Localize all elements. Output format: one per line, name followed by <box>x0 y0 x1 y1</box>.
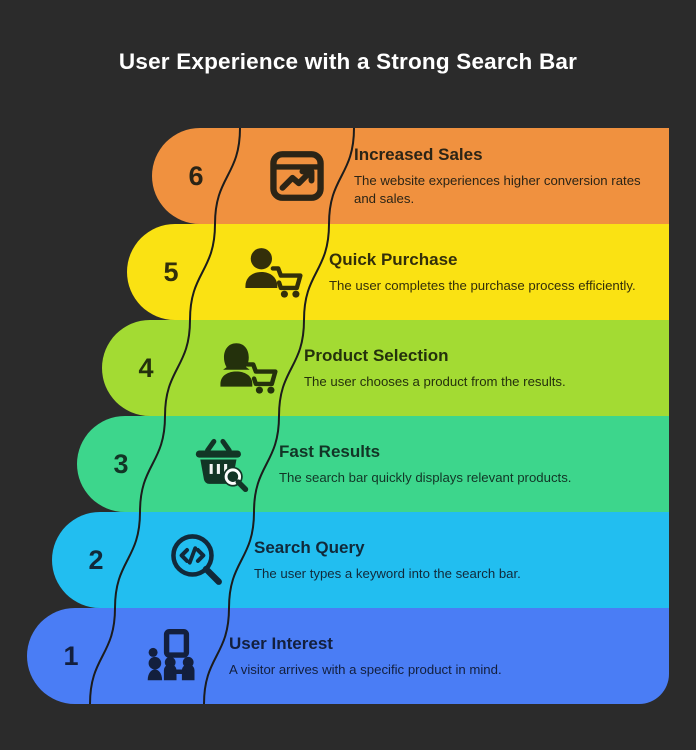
step-title: Search Query <box>254 538 651 558</box>
step-text-2: Search QueryThe user types a keyword int… <box>254 512 669 608</box>
step-title: Increased Sales <box>354 145 651 165</box>
step-number-pod-5: 5 <box>127 224 215 320</box>
step-description: A visitor arrives with a specific produc… <box>229 661 651 678</box>
step-number: 5 <box>163 259 178 286</box>
step-number: 4 <box>138 355 153 382</box>
step-description: The website experiences higher conversio… <box>354 172 651 207</box>
person-cart-icon <box>215 224 329 320</box>
step-number: 6 <box>188 163 203 190</box>
step-title: Fast Results <box>279 442 651 462</box>
step-text-1: User InterestA visitor arrives with a sp… <box>229 608 669 704</box>
step-text-3: Fast ResultsThe search bar quickly displ… <box>279 416 669 512</box>
step-number: 1 <box>63 643 78 670</box>
step-description: The user completes the purchase process … <box>329 277 651 294</box>
step-number-pod-2: 2 <box>52 512 140 608</box>
basket-search-icon <box>165 416 279 512</box>
step-title: User Interest <box>229 634 651 654</box>
people-display-icon <box>115 608 229 704</box>
step-description: The search bar quickly displays relevant… <box>279 469 651 486</box>
funnel-steps-container: 6Increased SalesThe website experiences … <box>0 0 696 750</box>
step-number-pod-1: 1 <box>27 608 115 704</box>
step-description: The user chooses a product from the resu… <box>304 373 651 390</box>
step-text-6: Increased SalesThe website experiences h… <box>354 128 669 224</box>
step-title: Quick Purchase <box>329 250 651 270</box>
step-number-pod-6: 6 <box>152 128 240 224</box>
infographic-root: User Experience with a Strong Search Bar… <box>0 0 696 750</box>
step-description: The user types a keyword into the search… <box>254 565 651 582</box>
chart-growth-icon <box>240 128 354 224</box>
step-number: 2 <box>88 547 103 574</box>
step-number: 3 <box>113 451 128 478</box>
step-number-pod-4: 4 <box>102 320 190 416</box>
step-text-5: Quick PurchaseThe user completes the pur… <box>329 224 669 320</box>
step-text-4: Product SelectionThe user chooses a prod… <box>304 320 669 416</box>
step-number-pod-3: 3 <box>77 416 165 512</box>
step-title: Product Selection <box>304 346 651 366</box>
woman-cart-icon <box>190 320 304 416</box>
code-search-icon <box>140 512 254 608</box>
